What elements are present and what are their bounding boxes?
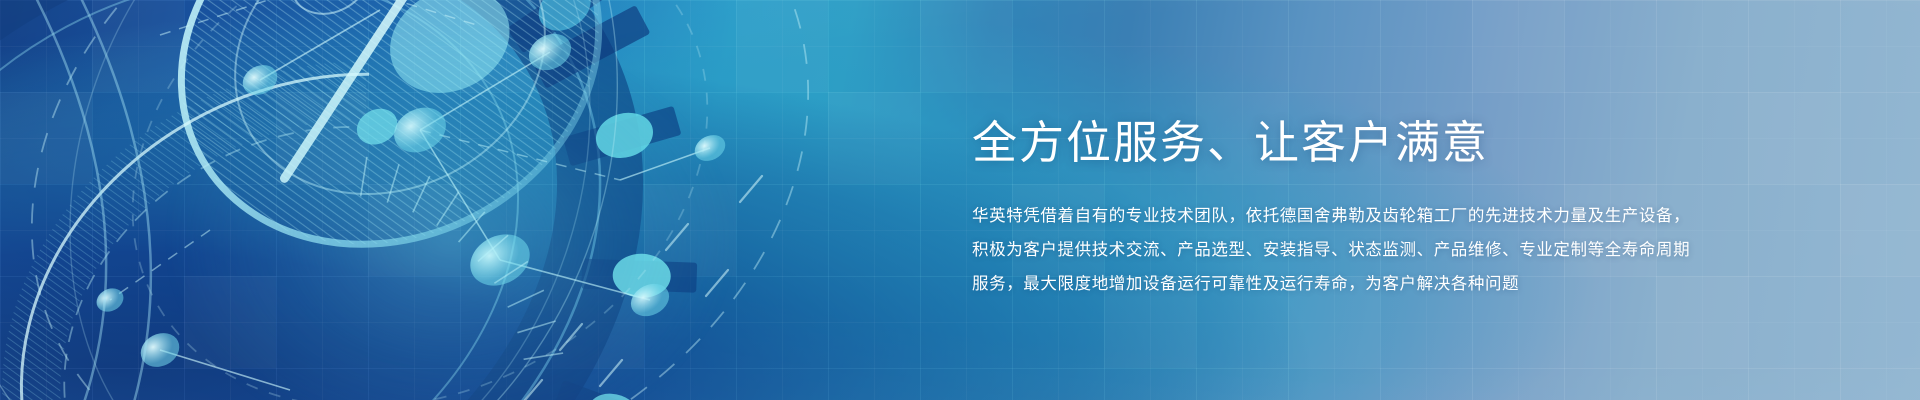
abstract-gear-network-graphic [0,0,1040,400]
grid-cell [1472,0,1564,92]
description-line: 华英特凭借着自有的专业技术团队，依托德国舍弗勒及齿轮箱工厂的先进技术力量及生产设… [972,199,1872,233]
page-title: 全方位服务、让客户满意 [972,116,1872,169]
description-line: 积极为客户提供技术交流、产品选型、安装指导、状态监测、产品维修、专业定制等全寿命… [972,233,1872,267]
description-line: 服务，最大限度地增加设备运行可靠性及运行寿命，为客户解决各种问题 [972,267,1872,301]
hero-description: 华英特凭借着自有的专业技术团队，依托德国舍弗勒及齿轮箱工厂的先进技术力量及生产设… [972,199,1872,301]
hero-copy: 全方位服务、让客户满意 华英特凭借着自有的专业技术团队，依托德国舍弗勒及齿轮箱工… [972,86,1872,301]
service-hero-banner: 全方位服务、让客户满意 华英特凭借着自有的专业技术团队，依托德国舍弗勒及齿轮箱工… [0,0,1920,400]
